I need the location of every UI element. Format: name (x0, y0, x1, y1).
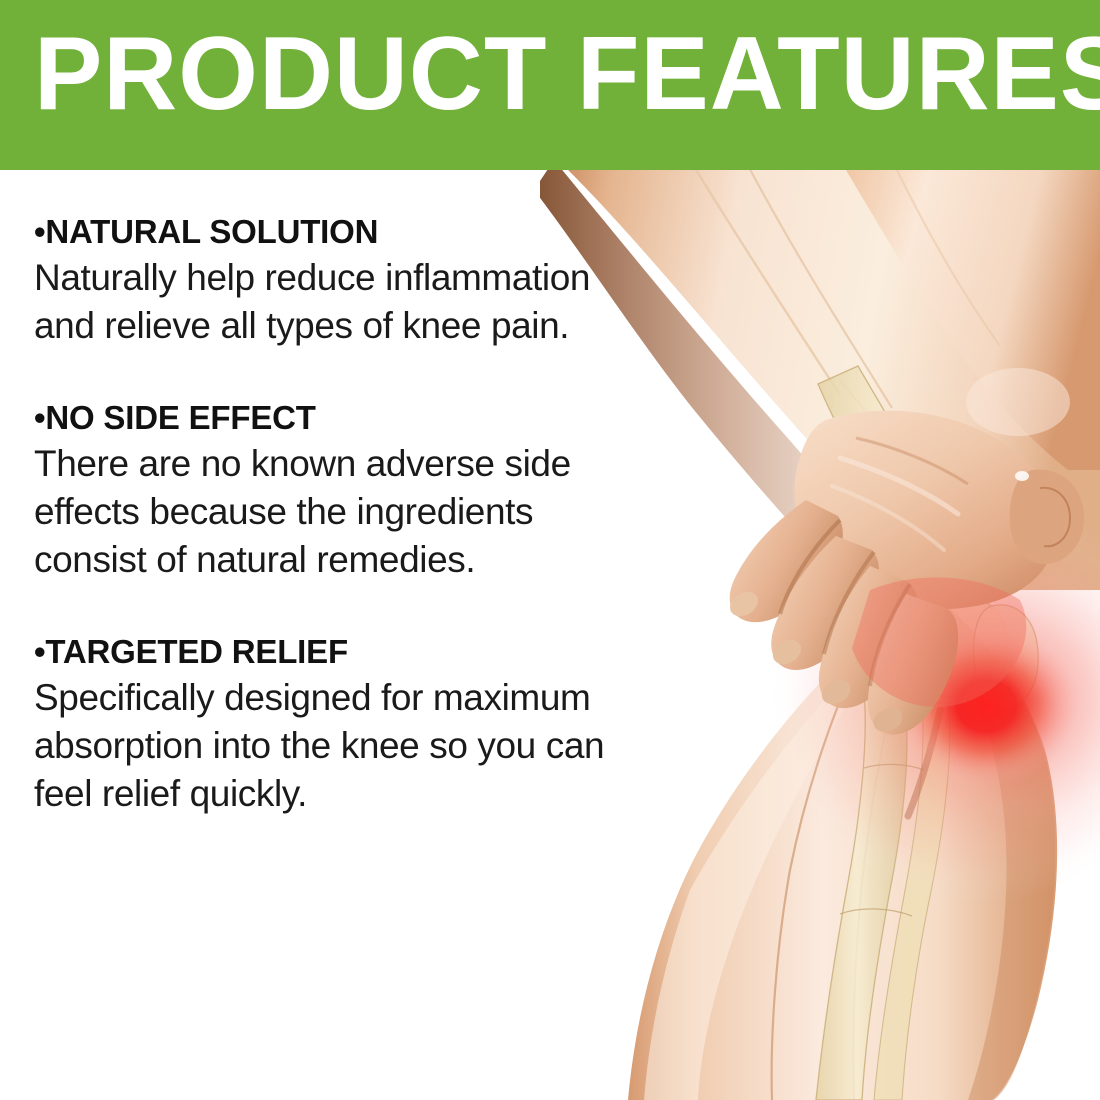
feature-block-targeted-relief: •TARGETED RELIEF Specifically designed f… (34, 630, 609, 818)
page-title: PRODUCT FEATURES (34, 14, 1058, 134)
knee-pain-illustration (540, 170, 1100, 1100)
knuckle-highlight (1015, 471, 1029, 481)
product-features-infographic: PRODUCT FEATURES (0, 0, 1100, 1100)
feature-block-natural-solution: •NATURAL SOLUTION Naturally help reduce … (34, 210, 609, 350)
wrist-highlight (966, 368, 1070, 436)
feature-block-no-side-effect: •NO SIDE EFFECT There are no known adver… (34, 396, 609, 584)
header-banner: PRODUCT FEATURES (0, 0, 1100, 170)
feature-heading-no-side-effect: •NO SIDE EFFECT (34, 396, 609, 440)
feature-heading-natural-solution: •NATURAL SOLUTION (34, 210, 609, 254)
feature-body-targeted-relief: Specifically designed for maximum absorp… (34, 674, 609, 818)
feature-body-no-side-effect: There are no known adverse side effects … (34, 440, 609, 584)
feature-body-natural-solution: Naturally help reduce inflammation and r… (34, 254, 609, 350)
features-list: •NATURAL SOLUTION Naturally help reduce … (34, 210, 609, 818)
feature-heading-targeted-relief: •TARGETED RELIEF (34, 630, 609, 674)
